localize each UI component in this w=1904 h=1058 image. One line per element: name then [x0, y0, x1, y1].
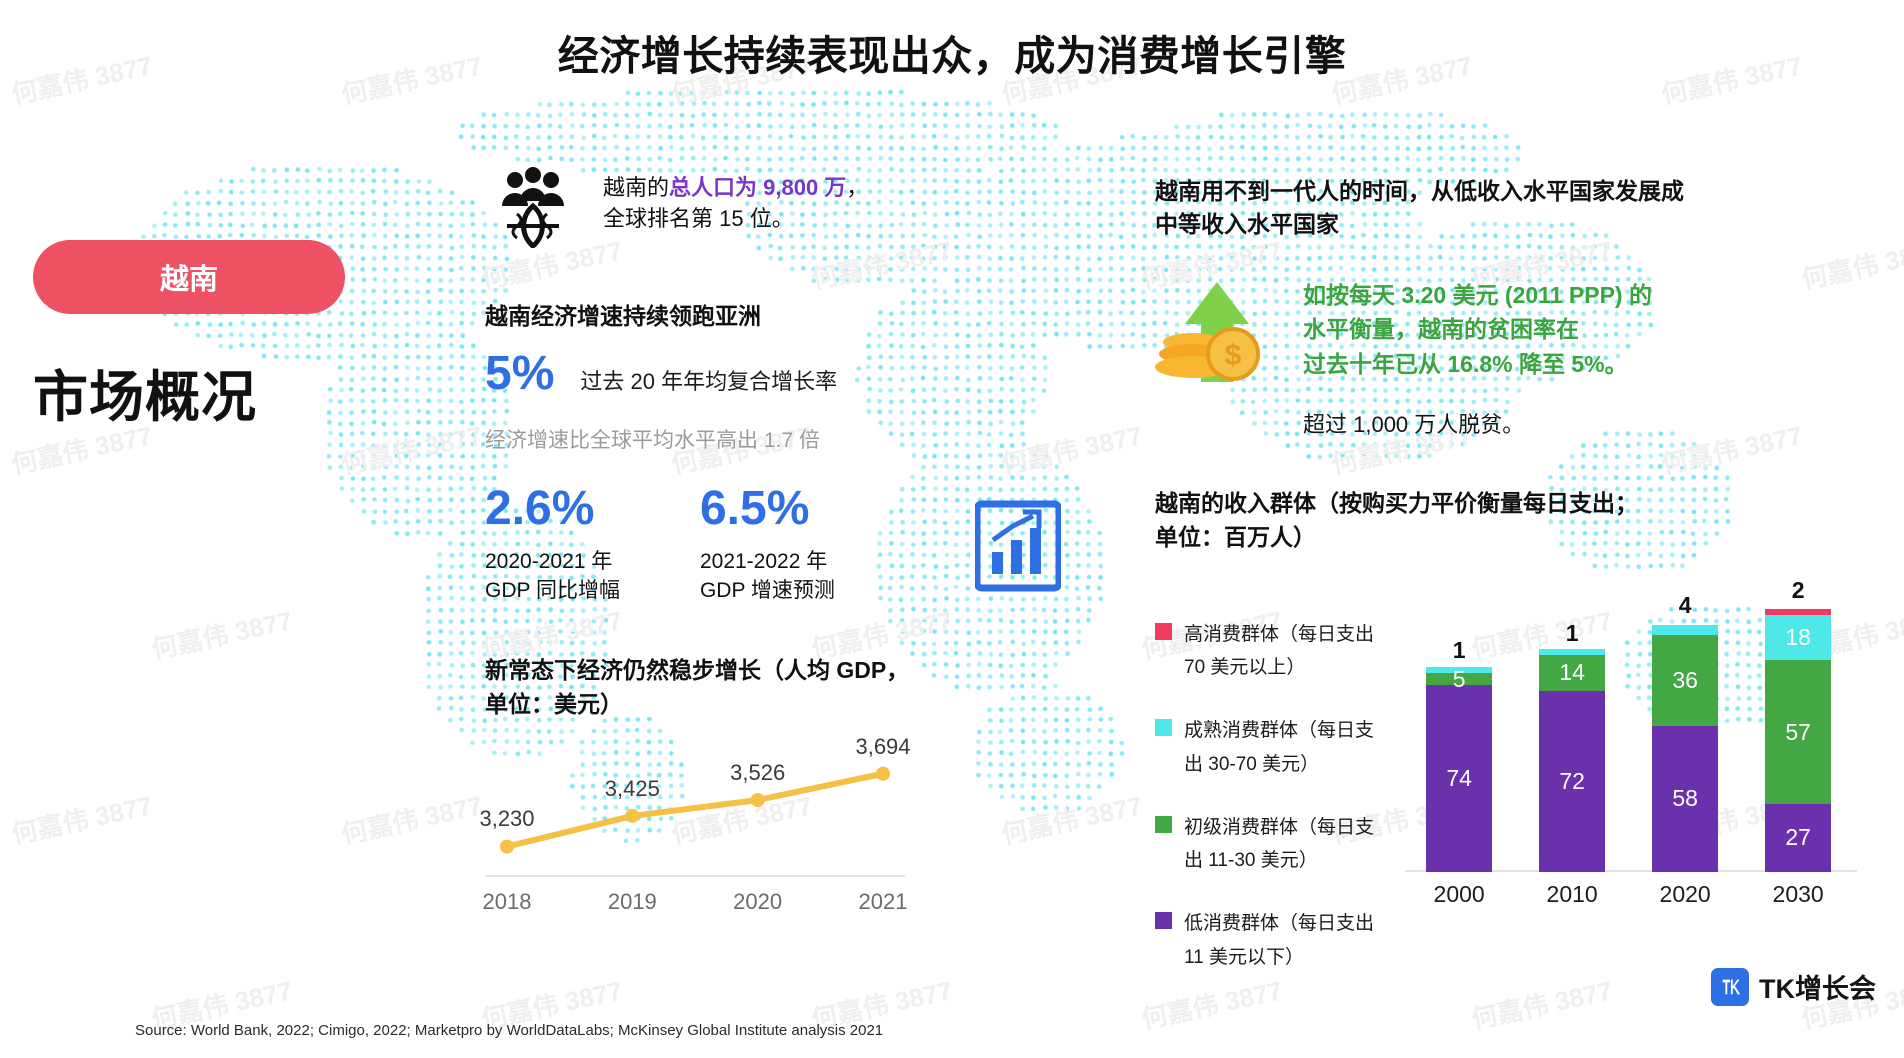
legend-item-label: 成熟消费群体（每日支出 30-70 美元） — [1184, 714, 1374, 781]
gdp-stat-value: 2.6% — [485, 484, 620, 534]
line-chart-x-tick: 2021 — [859, 889, 908, 915]
income-stacked-bar-chart: 高消费群体（每日支出70 美元以上）成熟消费群体（每日支出 30-70 美元）初… — [1155, 578, 1875, 1004]
bar-top-label: 1 — [1539, 620, 1605, 647]
legend-swatch-icon — [1155, 719, 1172, 736]
population-stat: 越南的总人口为 9,800 万， 全球排名第 15 位。 — [485, 160, 915, 248]
bar-top-label: 4 — [1652, 592, 1718, 619]
gdp-stat-2021-2022: 6.5% 2021-2022 年GDP 增速预测 — [700, 484, 835, 606]
bar-segment[interactable]: 74 — [1426, 685, 1492, 871]
growth-subnote: 经济增速比全球平均水平高出 1.7 倍 — [485, 424, 915, 454]
line-data-point — [500, 839, 514, 853]
bar-segment[interactable]: 5 — [1426, 673, 1492, 686]
bar-x-tick: 2010 — [1539, 881, 1605, 908]
bar-column[interactable]: 18572722030 — [1765, 609, 1831, 872]
brand-watermark: TK增长会 — [1711, 967, 1876, 1006]
poverty-lifted-text: 超过 1,000 万人脱贫。 — [1303, 407, 1652, 439]
bar-stack: 1472 — [1539, 649, 1605, 872]
bar-segment[interactable]: 58 — [1652, 726, 1718, 872]
legend-swatch-icon — [1155, 816, 1172, 833]
income-transition-heading: 越南用不到一代人的时间，从低收入水平国家发展成中等收入水平国家 — [1155, 175, 1875, 242]
bar-segment[interactable] — [1652, 625, 1718, 635]
legend-item[interactable]: 高消费群体（每日支出70 美元以上） — [1155, 618, 1405, 685]
gdp-stat-2020-2021: 2.6% 2020-2021 年GDP 同比增幅 — [485, 484, 620, 606]
bar-stack: 3658 — [1652, 625, 1718, 872]
line-value-label: 3,230 — [479, 806, 534, 832]
line-data-point — [751, 793, 765, 807]
country-badge: 越南 — [33, 240, 345, 314]
bar-segment[interactable]: 36 — [1652, 635, 1718, 726]
watermark-text: 何嘉伟 3877 — [338, 786, 486, 852]
bar-x-tick: 2030 — [1765, 881, 1831, 908]
watermark-text: 何嘉伟 3877 — [998, 416, 1146, 482]
chart-legend: 高消费群体（每日支出70 美元以上）成熟消费群体（每日支出 30-70 美元）初… — [1155, 578, 1405, 1004]
growth-heading: 越南经济增速持续领跑亚洲 — [485, 300, 915, 332]
legend-item-label: 低消费群体（每日支出11 美元以下） — [1184, 907, 1374, 974]
bar-segment[interactable]: 27 — [1765, 804, 1831, 872]
bar-column[interactable]: 365842020 — [1652, 625, 1718, 872]
line-value-label: 3,425 — [605, 776, 660, 802]
gdp-stat-label: 2021-2022 年GDP 增速预测 — [700, 547, 835, 607]
legend-swatch-icon — [1155, 912, 1172, 929]
line-value-label: 3,694 — [855, 734, 910, 760]
bar-segment[interactable]: 18 — [1765, 615, 1831, 660]
gdp-stat-value: 6.5% — [700, 484, 835, 534]
legend-item-label: 高消费群体（每日支出70 美元以上） — [1184, 618, 1374, 685]
income-chart-heading: 越南的收入群体（按购买力平价衡量每日支出；单位：百万人） — [1155, 487, 1875, 554]
middle-column: 越南的总人口为 9,800 万， 全球排名第 15 位。 越南经济增速持续领跑亚… — [485, 160, 915, 922]
bar-x-tick: 2000 — [1426, 881, 1492, 908]
chart-plot-area: 5741200014721201036584202018572722030 — [1405, 578, 1857, 908]
population-highlight: 总人口为 9,800 万 — [669, 175, 846, 200]
bar-stack: 185727 — [1765, 609, 1831, 872]
line-data-point — [625, 809, 639, 823]
bar-segment[interactable]: 14 — [1539, 655, 1605, 690]
tk-logo-icon — [1711, 968, 1749, 1006]
brand-name: TK增长会 — [1759, 967, 1876, 1006]
poverty-text: 如按每天 3.20 美元 (2011 PPP) 的水平衡量，越南的贫困率在过去十… — [1303, 272, 1652, 440]
legend-item[interactable]: 成熟消费群体（每日支出 30-70 美元） — [1155, 714, 1405, 781]
poverty-block: $ 如按每天 3.20 美元 (2011 PPP) 的水平衡量，越南的贫困率在过… — [1155, 272, 1875, 440]
watermark-text: 何嘉伟 3877 — [148, 601, 296, 667]
bar-segment[interactable]: 57 — [1765, 660, 1831, 804]
gdp-line-chart: 3,2303,4253,5263,6942018201920202021 — [485, 747, 905, 922]
country-badge-label: 越南 — [160, 256, 218, 298]
gdp-percapita-block: 新常态下经济仍然稳步增长（人均 GDP，单位：美元） 3,2303,4253,5… — [485, 654, 925, 922]
gdp-line-series — [485, 747, 905, 877]
line-chart-axis — [485, 875, 905, 877]
legend-item[interactable]: 低消费群体（每日支出11 美元以下） — [1155, 907, 1405, 974]
cagr-value: 5% — [485, 350, 554, 398]
bar-stack: 574 — [1426, 667, 1492, 872]
sidebar-heading: 市场概况 — [33, 352, 363, 432]
line-data-point — [876, 767, 890, 781]
poverty-rate-text: 如按每天 3.20 美元 (2011 PPP) 的水平衡量，越南的贫困率在过去十… — [1303, 278, 1652, 382]
svg-text:$: $ — [1225, 339, 1242, 372]
legend-swatch-icon — [1155, 623, 1172, 640]
coins-growth-arrow-icon: $ — [1155, 272, 1275, 390]
sidebar: 越南 市场概况 — [33, 240, 363, 432]
source-note: Source: World Bank, 2022; Cimigo, 2022; … — [135, 1022, 883, 1039]
bar-chart-icon — [975, 500, 1061, 592]
population-line2: 全球排名第 15 位。 — [603, 206, 794, 231]
bar-column[interactable]: 57412000 — [1426, 667, 1492, 872]
growth-block: 越南经济增速持续领跑亚洲 5% 过去 20 年年均复合增长率 经济增速比全球平均… — [485, 300, 915, 606]
page-title: 经济增长持续表现出众，成为消费增长引擎 — [0, 22, 1904, 82]
bar-column[interactable]: 147212010 — [1539, 649, 1605, 872]
bar-top-label: 2 — [1765, 577, 1831, 604]
line-chart-x-tick: 2019 — [608, 889, 657, 915]
bar-top-label: 1 — [1426, 637, 1492, 664]
legend-item-label: 初级消费群体（每日支出 11-30 美元） — [1184, 811, 1374, 878]
population-prefix: 越南的 — [603, 175, 669, 200]
watermark-text: 何嘉伟 3877 — [998, 786, 1146, 852]
right-column: 越南用不到一代人的时间，从低收入水平国家发展成中等收入水平国家 $ 如按每天 3… — [1155, 175, 1875, 1004]
line-value-label: 3,526 — [730, 760, 785, 786]
line-chart-x-tick: 2018 — [483, 889, 532, 915]
watermark-text: 何嘉伟 3877 — [8, 786, 156, 852]
bar-x-tick: 2020 — [1652, 881, 1718, 908]
gdp-chart-heading: 新常态下经济仍然稳步增长（人均 GDP，单位：美元） — [485, 654, 925, 721]
cagr-caption: 过去 20 年年均复合增长率 — [580, 364, 837, 396]
legend-item[interactable]: 初级消费群体（每日支出 11-30 美元） — [1155, 811, 1405, 878]
gdp-stat-pair: 2.6% 2020-2021 年GDP 同比增幅 6.5% 2021-2022 … — [485, 484, 915, 606]
bar-segment[interactable]: 72 — [1539, 691, 1605, 872]
line-chart-x-tick: 2020 — [733, 889, 782, 915]
gdp-stat-label: 2020-2021 年GDP 同比增幅 — [485, 547, 620, 607]
population-suffix: ， — [846, 175, 868, 200]
people-globe-icon — [485, 162, 581, 248]
population-text: 越南的总人口为 9,800 万， 全球排名第 15 位。 — [603, 160, 868, 234]
